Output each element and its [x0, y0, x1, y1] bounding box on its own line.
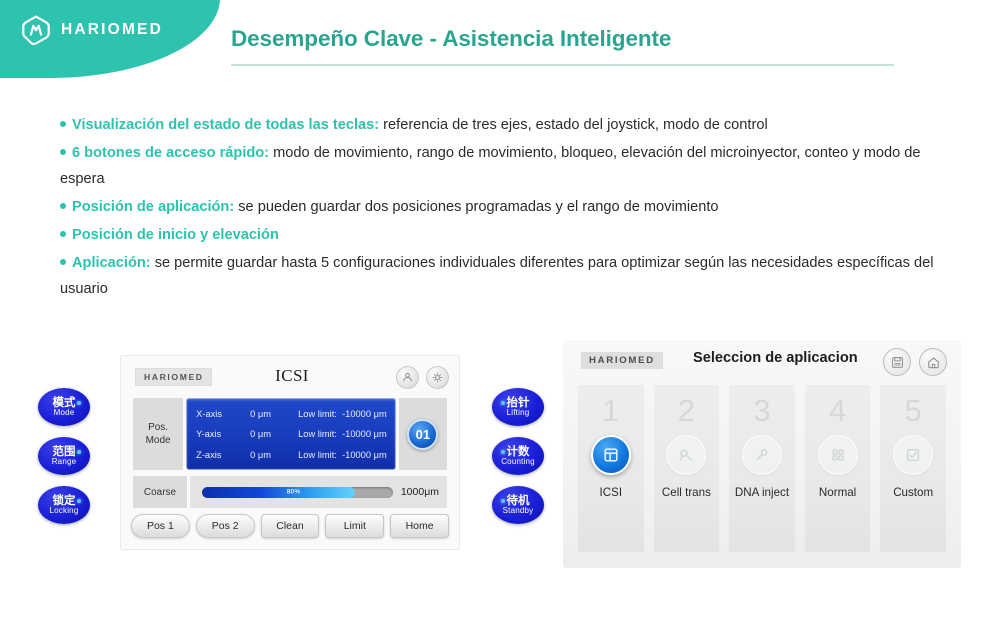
range-slider-fill [202, 487, 355, 498]
key-label-en: Mode [54, 408, 75, 418]
app-card-number: 2 [678, 393, 695, 429]
pos2-button[interactable]: Pos 2 [196, 514, 255, 538]
led-indicator-icon [501, 450, 505, 454]
axis-name: X-axis [196, 409, 250, 419]
controller-screen-header: HARIOMED ICSI [135, 366, 449, 392]
axis-limit-value: -10000 μm [342, 409, 387, 419]
range-max-value: 1000μm [401, 486, 439, 498]
hariomed-hexagon-logo-icon [20, 14, 52, 46]
speed-range-row: Coarse 80% 1000μm [133, 476, 447, 508]
page-title: Desempeño Clave - Asistencia Inteligente [231, 26, 671, 52]
controller-screen-panel: HARIOMED ICSI Pos. Mode X-axis 0 μm Low … [120, 355, 460, 550]
save-floppy-icon[interactable] [883, 348, 911, 376]
list-item: Posición de inicio y elevación [60, 222, 940, 248]
range-slider-cell: 80% 1000μm [190, 476, 447, 508]
key-label-cn: 模式 [53, 396, 76, 408]
bullet-heading: Aplicación: [72, 255, 151, 271]
bullet-heading: Posición de inicio y elevación [72, 227, 279, 243]
preset-slot-cell: 01 [399, 398, 447, 470]
right-hardware-key-column: 抬针 Lifting 计数 Counting 待机 Standby [492, 388, 544, 524]
brand-name: HARIOMED [61, 21, 163, 39]
axis-row: Z-axis 0 μm Low limit: -10000 μm [196, 450, 387, 460]
pos-mode-label-line1: Pos. [148, 421, 168, 434]
bullet-dot-icon [60, 259, 66, 265]
checkbox-icon [893, 435, 933, 475]
device-brand-chip: HARIOMED [581, 352, 663, 369]
key-lifting[interactable]: 抬针 Lifting [492, 388, 544, 426]
app-card-label: Cell trans [662, 486, 711, 499]
list-item: Posición de aplicación: se pueden guarda… [60, 194, 940, 220]
app-card-label: Normal [819, 486, 856, 499]
device-header-icons [396, 366, 449, 389]
key-locking[interactable]: 锁定 Locking [38, 486, 90, 524]
axis-limit-value: -10000 μm [342, 450, 387, 460]
app-card-normal[interactable]: 4 Normal [805, 385, 871, 552]
bullet-heading: 6 botones de acceso rápido: [72, 145, 269, 161]
icsi-panel-icon [591, 435, 631, 475]
axis-limit-value: -10000 μm [342, 429, 387, 439]
key-label-cn: 待机 [507, 494, 530, 506]
application-panel-title: Seleccion de aplicacion [693, 350, 858, 366]
bullet-heading: Visualización del estado de todas las te… [72, 117, 379, 133]
axis-limit-label: Low limit: [298, 429, 337, 439]
grid-dots-icon [818, 435, 858, 475]
key-label-cn: 锁定 [53, 494, 76, 506]
key-label-en: Range [52, 457, 77, 467]
brand-logo: HARIOMED [20, 14, 163, 46]
key-label-en: Locking [50, 506, 79, 516]
key-label-cn: 范围 [53, 445, 76, 457]
key-label-en: Lifting [507, 408, 530, 418]
range-slider[interactable]: 80% [202, 487, 393, 498]
key-mode[interactable]: 模式 Mode [38, 388, 90, 426]
key-label-en: Counting [501, 457, 535, 467]
axis-value: 0 μm [250, 409, 298, 419]
bullet-dot-icon [60, 231, 66, 237]
led-indicator-icon [501, 401, 505, 405]
app-card-number: 1 [602, 393, 619, 429]
bullet-body: referencia de tres ejes, estado del joys… [379, 117, 768, 133]
axis-value: 0 μm [250, 450, 298, 460]
key-label-cn: 计数 [507, 445, 530, 457]
feature-bullet-list: Visualización del estado de todas las te… [60, 112, 940, 304]
key-range[interactable]: 范围 Range [38, 437, 90, 475]
pos1-button[interactable]: Pos 1 [131, 514, 190, 538]
application-panel-header: HARIOMED Seleccion de aplicacion [581, 348, 947, 376]
app-card-label: Custom [893, 486, 933, 499]
device-action-button-row: Pos 1 Pos 2 Clean Limit Home [131, 513, 449, 539]
led-indicator-icon [77, 401, 81, 405]
position-readout-row: Pos. Mode X-axis 0 μm Low limit: -10000 … [133, 398, 447, 470]
app-card-label: ICSI [600, 486, 623, 499]
app-card-number: 5 [905, 393, 922, 429]
axis-row: X-axis 0 μm Low limit: -10000 μm [196, 409, 387, 419]
bullet-body: se permite guardar hasta 5 configuracion… [60, 255, 934, 297]
range-slider-percent: 80% [287, 489, 301, 496]
list-item: Aplicación: se permite guardar hasta 5 c… [60, 250, 940, 302]
left-hardware-key-column: 模式 Mode 范围 Range 锁定 Locking [38, 388, 90, 524]
axis-name: Z-axis [196, 450, 250, 460]
list-item: 6 botones de acceso rápido: modo de movi… [60, 140, 940, 192]
pos-mode-label-line2: Mode [146, 434, 171, 447]
limit-button[interactable]: Limit [325, 514, 384, 538]
application-selection-panel: HARIOMED Seleccion de aplicacion 1 ICSI … [563, 340, 961, 568]
app-card-cell-trans[interactable]: 2 Cell trans [654, 385, 720, 552]
list-item: Visualización del estado de todas las te… [60, 112, 940, 138]
axis-readout-display[interactable]: X-axis 0 μm Low limit: -10000 μm Y-axis … [186, 398, 396, 470]
app-card-icsi[interactable]: 1 ICSI [578, 385, 644, 552]
cell-transfer-icon [666, 435, 706, 475]
bullet-dot-icon [60, 203, 66, 209]
key-label-en: Standby [503, 506, 534, 516]
axis-value: 0 μm [250, 429, 298, 439]
axis-limit-label: Low limit: [298, 409, 337, 419]
app-card-custom[interactable]: 5 Custom [880, 385, 946, 552]
bullet-body: se pueden guardar dos posiciones program… [234, 199, 718, 215]
led-indicator-icon [77, 450, 81, 454]
axis-limit-label: Low limit: [298, 450, 337, 460]
led-indicator-icon [77, 499, 81, 503]
application-panel-icons [883, 348, 947, 376]
home-button[interactable]: Home [390, 514, 449, 538]
bullet-heading: Posición de aplicación: [72, 199, 234, 215]
title-divider [231, 64, 894, 66]
key-counting[interactable]: 计数 Counting [492, 437, 544, 475]
gear-icon[interactable] [426, 366, 449, 389]
key-label-cn: 抬针 [507, 396, 530, 408]
led-indicator-icon [501, 499, 505, 503]
user-profile-icon[interactable] [396, 366, 419, 389]
speed-mode-label: Coarse [133, 476, 187, 508]
axis-name: Y-axis [196, 429, 250, 439]
app-card-number: 3 [753, 393, 770, 429]
dna-inject-icon [742, 435, 782, 475]
pos-mode-label: Pos. Mode [133, 398, 183, 470]
preset-badge[interactable]: 01 [407, 419, 438, 450]
clean-button[interactable]: Clean [261, 514, 320, 538]
app-card-label: DNA inject [735, 486, 789, 499]
app-card-number: 4 [829, 393, 846, 429]
home-icon[interactable] [919, 348, 947, 376]
key-standby[interactable]: 待机 Standby [492, 486, 544, 524]
app-card-dna-inject[interactable]: 3 DNA inject [729, 385, 795, 552]
bullet-dot-icon [60, 149, 66, 155]
axis-row: Y-axis 0 μm Low limit: -10000 μm [196, 429, 387, 439]
application-card-grid: 1 ICSI 2 Cell trans 3 DNA inject 4 [578, 385, 946, 552]
bullet-dot-icon [60, 121, 66, 127]
